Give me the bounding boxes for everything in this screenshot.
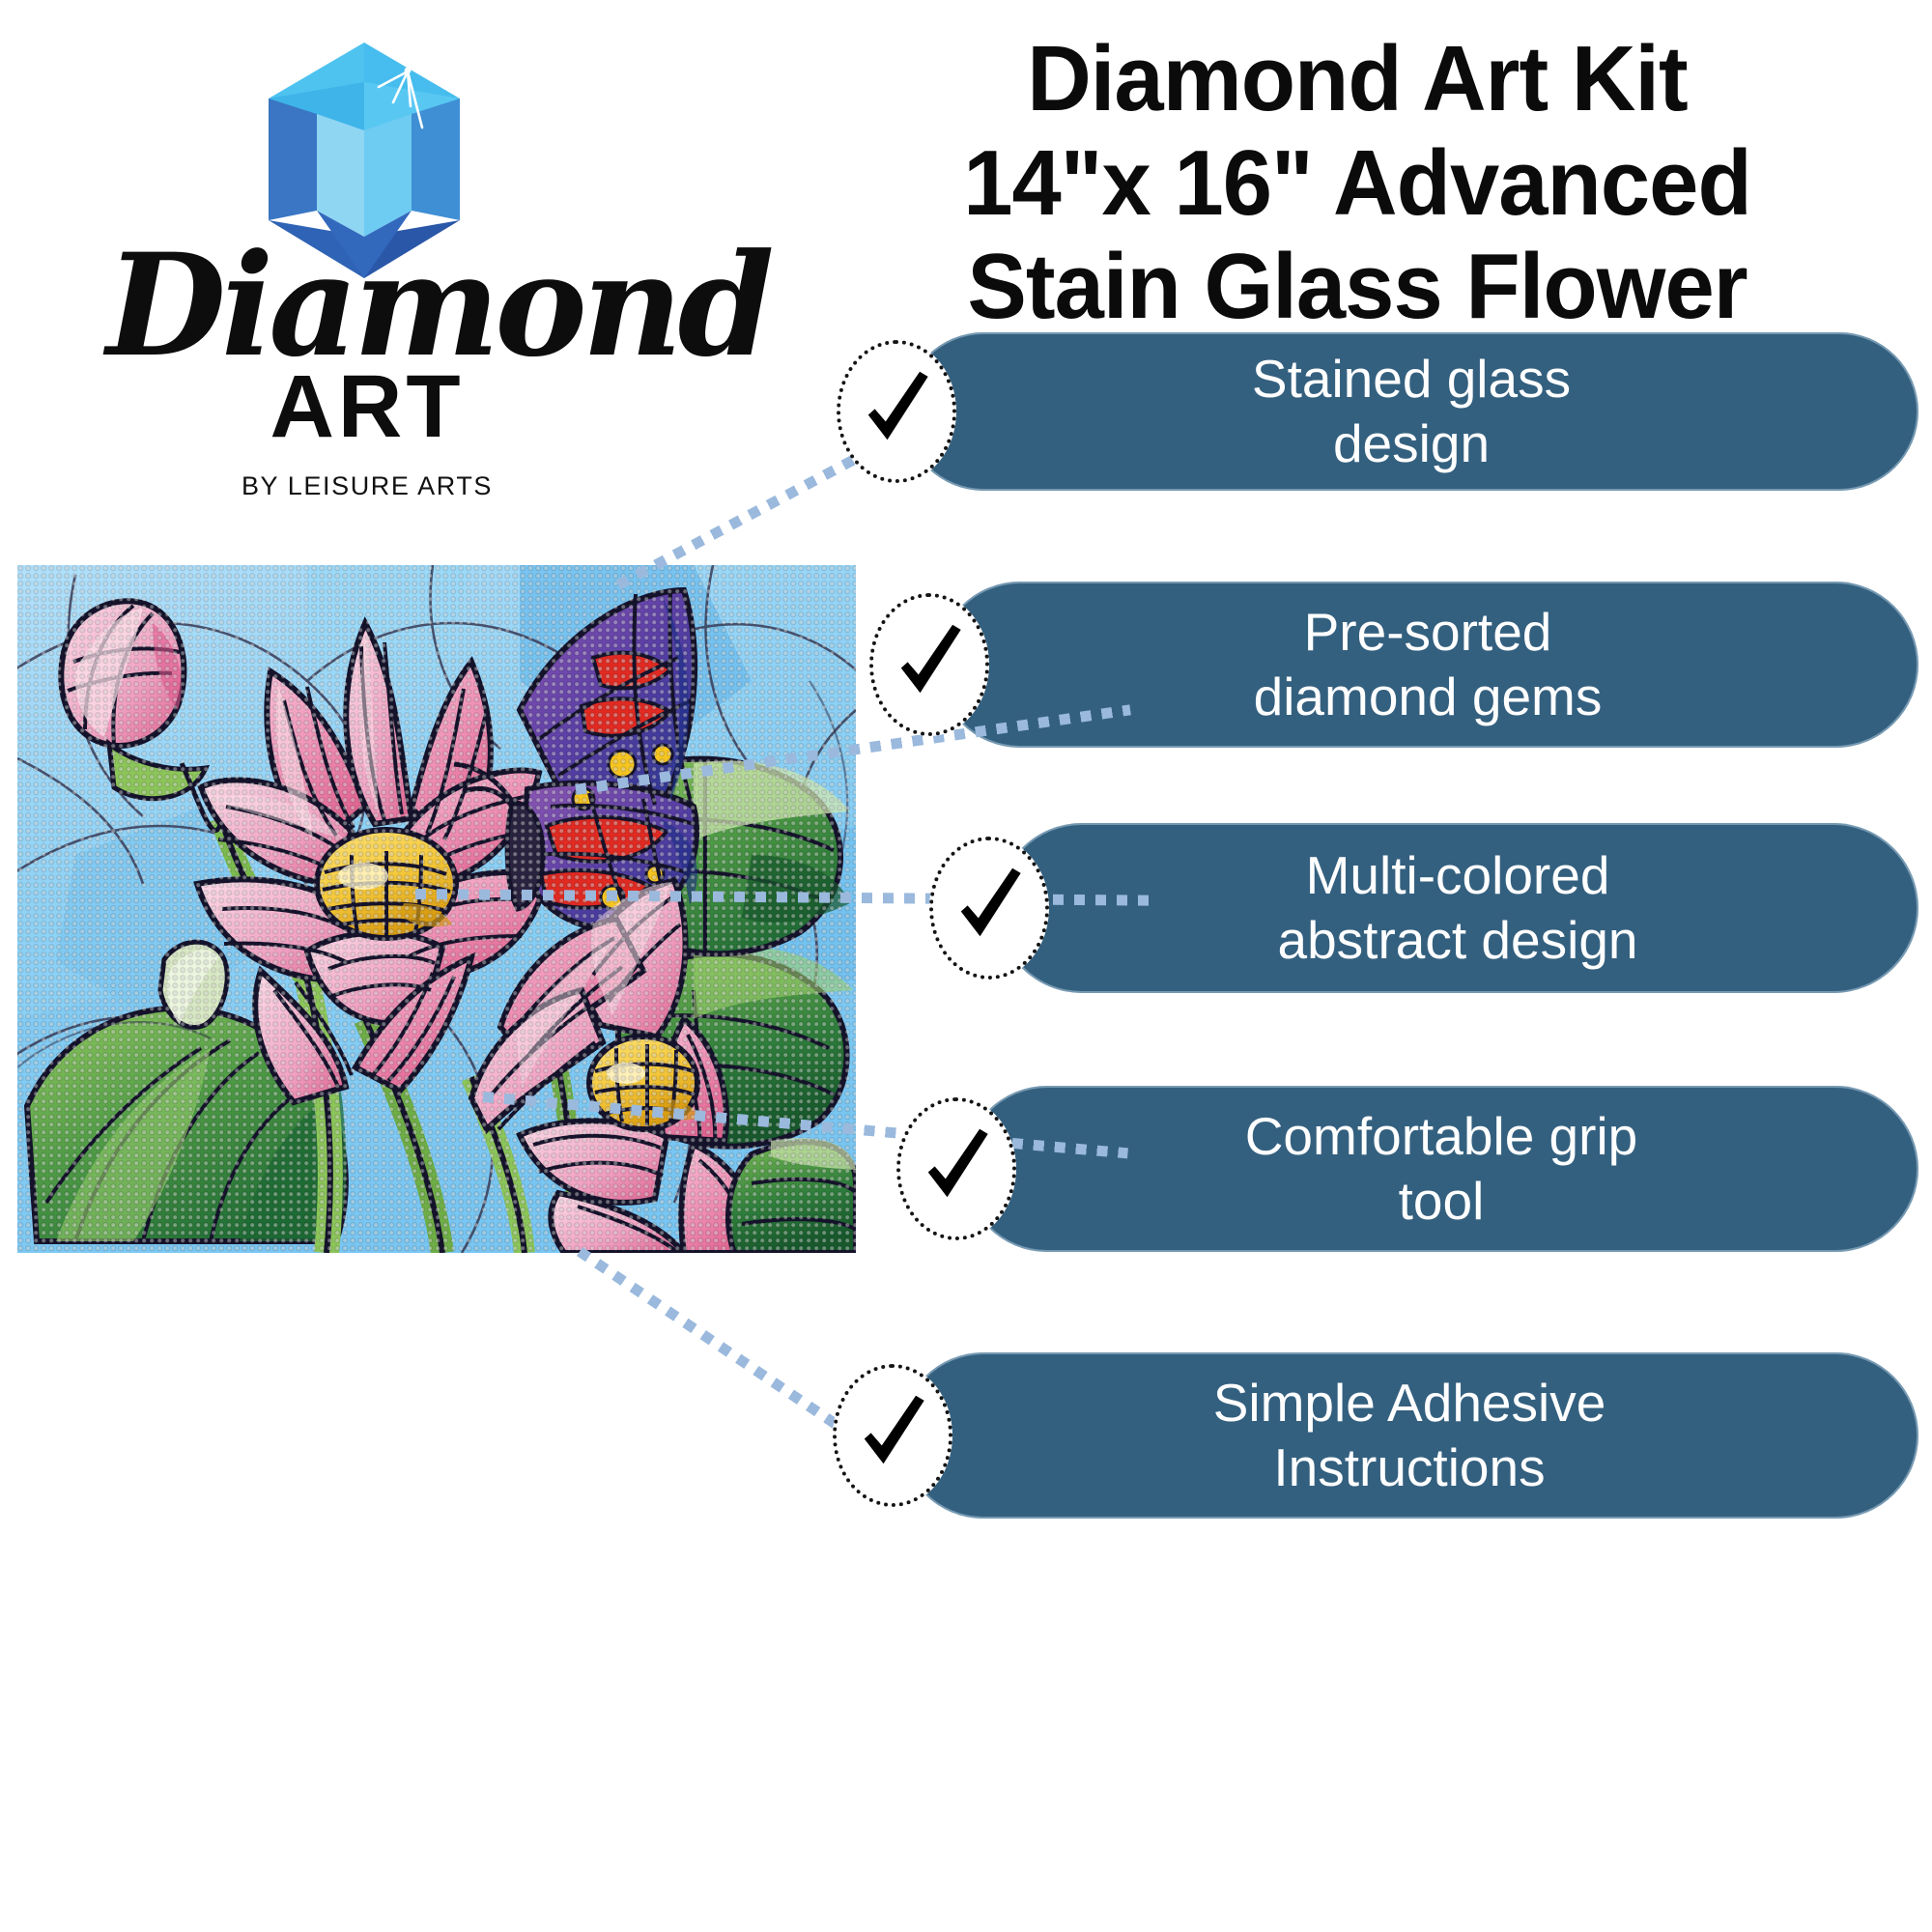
feature-item-simple-adhesive-instructions[interactable]: Simple Adhesive Instructions [833,1352,1918,1519]
check-icon-glyph [915,1127,998,1210]
check-icon [929,837,1049,980]
title-line-2: 14"x 16" Advanced [824,131,1890,236]
feature-label: Multi-colored abstract design [1278,843,1638,973]
check-icon-glyph [948,867,1031,950]
stained-glass-artwork [17,565,856,1253]
feature-pill[interactable]: Stained glass design [904,332,1918,491]
title-line-1: Diamond Art Kit [824,27,1890,131]
feature-label: Stained glass design [1252,347,1571,476]
check-icon-glyph [888,623,971,706]
feature-pill[interactable]: Multi-colored abstract design [997,823,1918,993]
feature-item-multi-colored-abstract-design[interactable]: Multi-colored abstract design [929,823,1918,993]
check-icon-glyph [851,1394,934,1477]
product-image [17,565,856,1253]
feature-pill[interactable]: Comfortable grip tool [964,1086,1918,1252]
logo-wordmark: Diamond [106,236,628,377]
check-icon [869,593,989,736]
logo-byline: BY LEISURE ARTS [106,471,628,501]
logo-wordmark-secondary: ART [106,362,628,451]
feature-pill[interactable]: Pre-sorted diamond gems [937,582,1918,748]
feature-item-stained-glass-design[interactable]: Stained glass design [837,332,1918,491]
feature-label: Simple Adhesive Instructions [1213,1371,1606,1500]
check-icon-glyph [855,370,938,453]
check-icon [896,1097,1016,1240]
feature-item-comfortable-grip-tool[interactable]: Comfortable grip tool [896,1086,1918,1252]
brand-logo: Diamond ART BY LEISURE ARTS [106,39,628,531]
check-icon [833,1364,952,1507]
connector-line-5 [577,1247,838,1429]
feature-label: Pre-sorted diamond gems [1254,600,1603,729]
page-title: Diamond Art Kit 14"x 16" Advanced Stain … [802,27,1913,339]
feature-pill[interactable]: Simple Adhesive Instructions [900,1352,1918,1519]
check-icon [837,340,956,483]
title-line-3: Stain Glass Flower [824,235,1890,339]
feature-label: Comfortable grip tool [1245,1104,1638,1234]
